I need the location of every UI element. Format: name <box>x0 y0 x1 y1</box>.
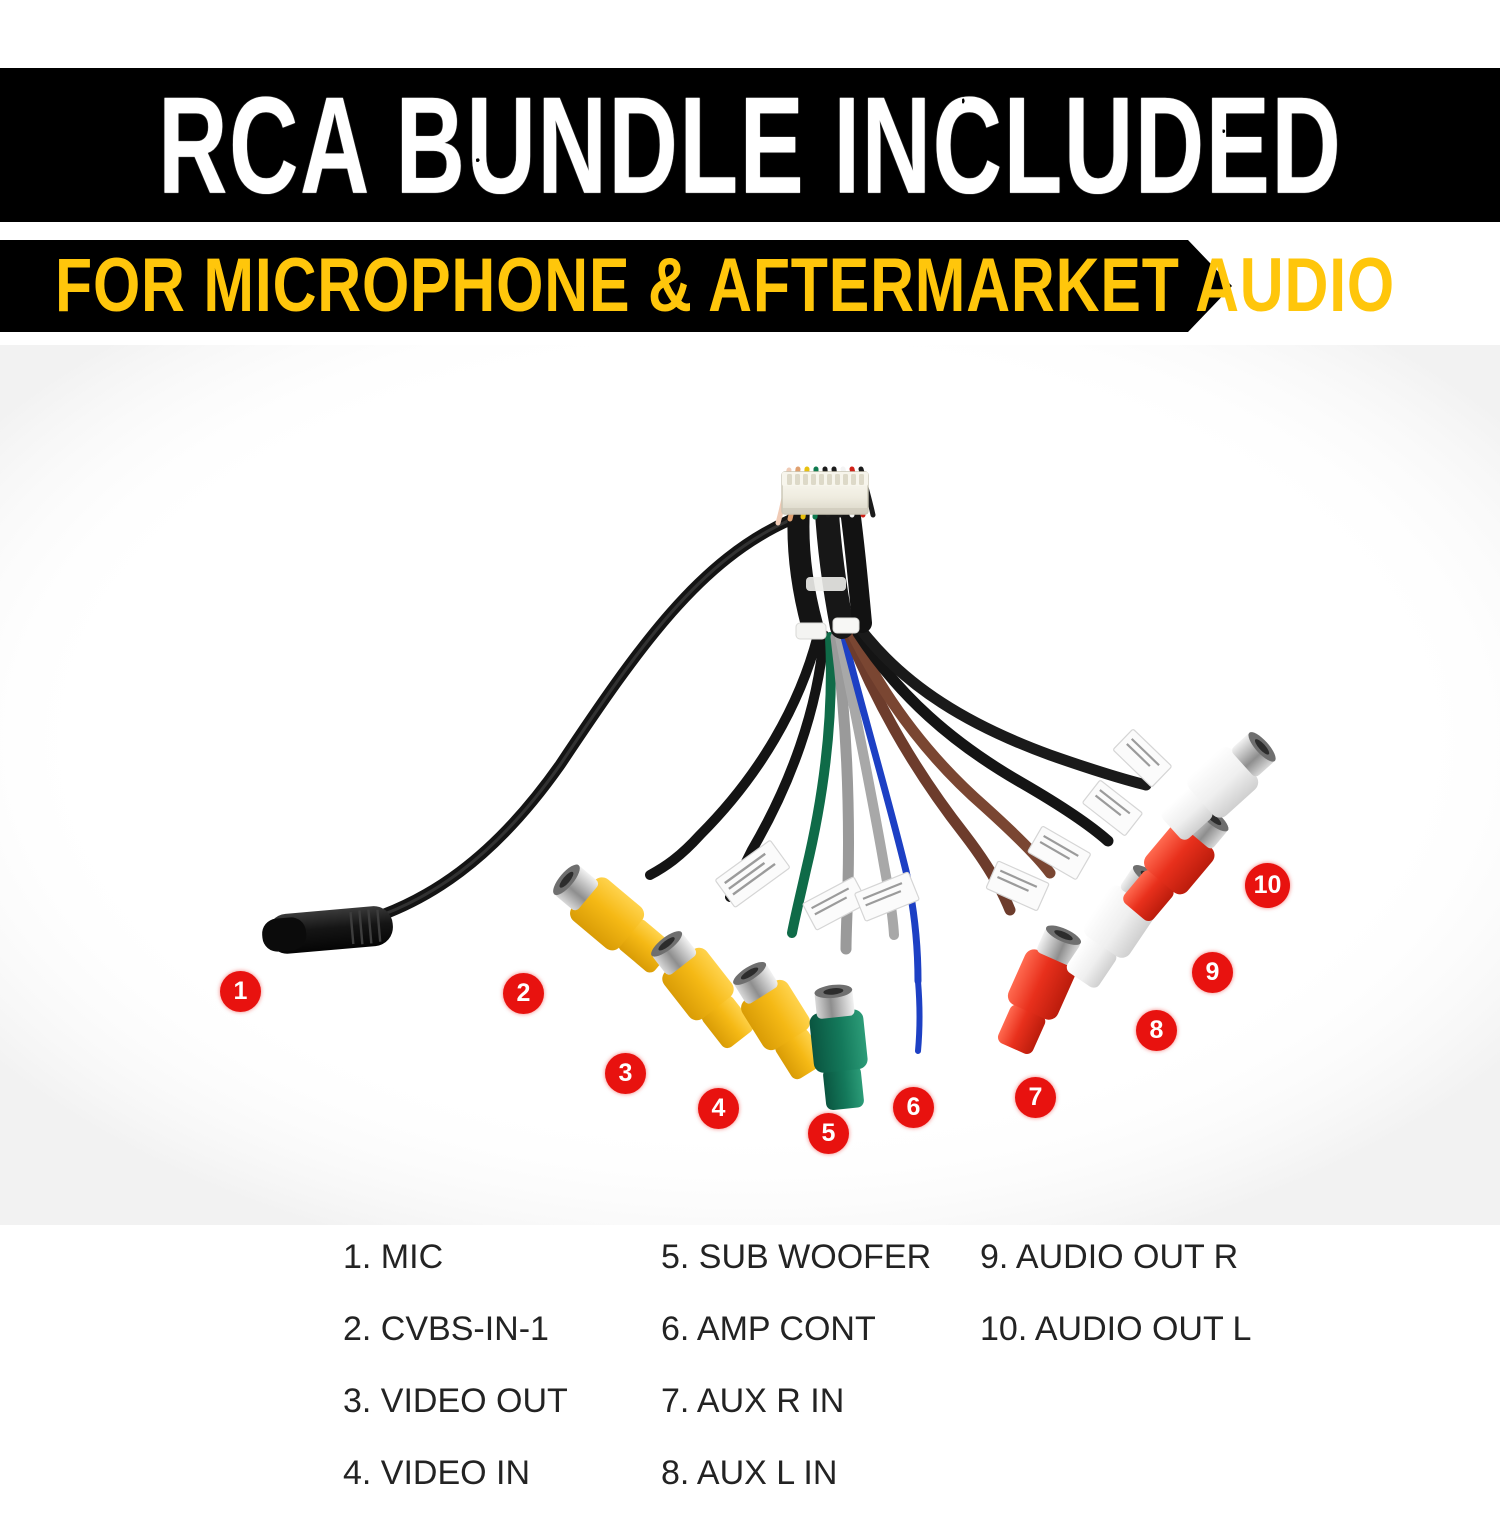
harness-illustration <box>0 345 1500 1225</box>
legend-column-1: 1. MIC 2. CVBS-IN-1 3. VIDEO OUT 4. VIDE… <box>343 1240 568 1528</box>
callout-marker-3-label: 3 <box>619 1059 633 1088</box>
legend-item-5: 5. SUB WOOFER <box>661 1240 931 1312</box>
legend-item-6: 6. AMP CONT <box>661 1312 931 1384</box>
callout-marker-9[interactable]: 9 <box>1192 952 1233 993</box>
headline-banner: RCA BUNDLE INCLUDED <box>0 68 1500 222</box>
legend-item-7: 7. AUX R IN <box>661 1384 931 1456</box>
callout-marker-10-label: 10 <box>1254 871 1282 900</box>
callout-marker-7-label: 7 <box>1029 1083 1043 1112</box>
callout-marker-1[interactable]: 1 <box>220 971 261 1012</box>
headline-text: RCA BUNDLE INCLUDED <box>158 76 1342 214</box>
callout-marker-5[interactable]: 5 <box>808 1113 849 1154</box>
callout-marker-5-label: 5 <box>822 1119 836 1148</box>
legend-item-3: 3. VIDEO OUT <box>343 1384 568 1456</box>
callout-marker-6-label: 6 <box>907 1093 921 1122</box>
callout-marker-10[interactable]: 10 <box>1245 863 1290 908</box>
callout-marker-2[interactable]: 2 <box>503 973 544 1014</box>
callout-marker-2-label: 2 <box>517 979 531 1008</box>
subheadline-text: FOR MICROPHONE & AFTERMARKET AUDIO <box>55 248 1395 324</box>
legend-column-3: 9. AUDIO OUT R 10. AUDIO OUT L <box>980 1240 1251 1384</box>
legend-item-2: 2. CVBS-IN-1 <box>343 1312 568 1384</box>
subheadline-banner: FOR MICROPHONE & AFTERMARKET AUDIO <box>0 240 1232 332</box>
legend-item-10: 10. AUDIO OUT L <box>980 1312 1251 1384</box>
callout-marker-9-label: 9 <box>1206 958 1220 987</box>
legend-item-8: 8. AUX L IN <box>661 1456 931 1528</box>
legend-item-9: 9. AUDIO OUT R <box>980 1240 1251 1312</box>
legend-item-1: 1. MIC <box>343 1240 568 1312</box>
legend-item-4: 4. VIDEO IN <box>343 1456 568 1528</box>
callout-marker-8[interactable]: 8 <box>1136 1010 1177 1051</box>
callout-marker-6[interactable]: 6 <box>893 1087 934 1128</box>
callout-marker-4-label: 4 <box>712 1094 726 1123</box>
callout-marker-3[interactable]: 3 <box>605 1053 646 1094</box>
legend-column-2: 5. SUB WOOFER 6. AMP CONT 7. AUX R IN 8.… <box>661 1240 931 1528</box>
callout-marker-1-label: 1 <box>234 977 248 1006</box>
product-photo <box>0 345 1500 1225</box>
callout-marker-7[interactable]: 7 <box>1015 1077 1056 1118</box>
callout-marker-8-label: 8 <box>1150 1016 1164 1045</box>
legend: 1. MIC 2. CVBS-IN-1 3. VIDEO OUT 4. VIDE… <box>0 1240 1500 1470</box>
callout-marker-4[interactable]: 4 <box>698 1088 739 1129</box>
